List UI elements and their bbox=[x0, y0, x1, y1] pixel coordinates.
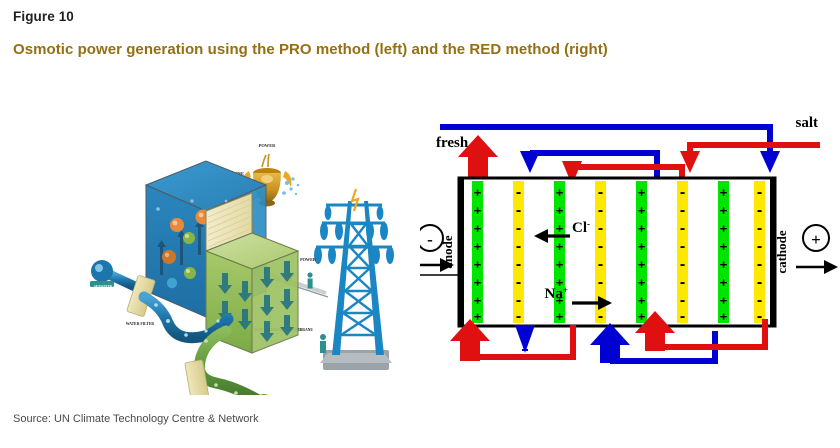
svg-text:-: - bbox=[757, 256, 762, 273]
red-method-schematic: fresh salt ++++ bbox=[420, 105, 840, 395]
svg-text:-: - bbox=[598, 274, 603, 291]
fresh-outlet-down-arrow bbox=[515, 325, 535, 353]
cathode-terminal-sign: + bbox=[811, 230, 821, 249]
pro-water-filter-1-label: WATER FILTER bbox=[126, 322, 155, 326]
svg-text:-: - bbox=[516, 308, 521, 325]
source-caption: Source: UN Climate Technology Centre & N… bbox=[13, 413, 259, 425]
svg-text:-: - bbox=[680, 308, 685, 325]
svg-text:-: - bbox=[680, 202, 685, 219]
svg-text:+: + bbox=[474, 185, 482, 200]
svg-text:-: - bbox=[757, 220, 762, 237]
svg-text:+: + bbox=[638, 221, 646, 236]
svg-text:+: + bbox=[556, 257, 564, 272]
svg-text:+: + bbox=[556, 239, 564, 254]
svg-text:-: - bbox=[598, 238, 603, 255]
svg-text:-: - bbox=[757, 274, 762, 291]
svg-text:+: + bbox=[638, 275, 646, 290]
fresh-outlet-up-arrow bbox=[590, 323, 630, 363]
svg-text:+: + bbox=[720, 293, 728, 308]
svg-text:-: - bbox=[757, 308, 762, 325]
salt-inlet-header bbox=[690, 145, 820, 153]
svg-text:-: - bbox=[516, 256, 521, 273]
lightning-icon bbox=[352, 189, 358, 211]
svg-text:-: - bbox=[757, 292, 762, 309]
svg-text:-: - bbox=[598, 202, 603, 219]
svg-text:+: + bbox=[720, 203, 728, 218]
transmission-pylon-icon bbox=[314, 189, 394, 370]
fresh-down-arrow-right bbox=[760, 151, 780, 173]
figure-title: Osmotic power generation using the PRO m… bbox=[13, 41, 608, 58]
fresh-down-arrow-left bbox=[520, 151, 540, 173]
svg-text:+: + bbox=[720, 185, 728, 200]
svg-text:+: + bbox=[556, 309, 564, 324]
svg-text:+: + bbox=[720, 309, 728, 324]
svg-text:-: - bbox=[757, 202, 762, 219]
salt-label: salt bbox=[796, 115, 819, 131]
svg-text:-: - bbox=[680, 256, 685, 273]
svg-text:-: - bbox=[516, 202, 521, 219]
cathode-label: cathode bbox=[774, 230, 789, 274]
svg-text:+: + bbox=[474, 275, 482, 290]
svg-text:-: - bbox=[598, 220, 603, 237]
pro-power-turbine-label: POWER bbox=[259, 143, 276, 148]
svg-text:-: - bbox=[757, 238, 762, 255]
svg-text:+: + bbox=[474, 239, 482, 254]
svg-text:+: + bbox=[720, 257, 728, 272]
svg-text:-: - bbox=[516, 184, 521, 201]
fresh-label: fresh bbox=[436, 135, 469, 151]
svg-text:-: - bbox=[516, 274, 521, 291]
svg-text:-: - bbox=[757, 184, 762, 201]
svg-text:-: - bbox=[598, 184, 603, 201]
red-cell-stack: ++++ ++++ ++++ ++++ ++++ ++++ ++++ ++++ … bbox=[459, 178, 775, 326]
svg-text:+: + bbox=[720, 275, 728, 290]
svg-text:-: - bbox=[680, 184, 685, 201]
anode-terminal-sign: - bbox=[427, 230, 433, 249]
svg-text:+: + bbox=[474, 257, 482, 272]
svg-text:+: + bbox=[474, 221, 482, 236]
svg-text:+: + bbox=[638, 309, 646, 324]
svg-text:+: + bbox=[720, 239, 728, 254]
svg-text:+: + bbox=[474, 203, 482, 218]
worker-figure-icon bbox=[320, 334, 326, 353]
svg-text:-: - bbox=[516, 238, 521, 255]
svg-text:+: + bbox=[474, 309, 482, 324]
svg-text:+: + bbox=[556, 203, 564, 218]
svg-text:+: + bbox=[638, 257, 646, 272]
svg-text:+: + bbox=[720, 221, 728, 236]
pro-seawater-label: SEAWATER bbox=[94, 284, 113, 288]
figure-page: Figure 10 Osmotic power generation using… bbox=[0, 0, 840, 448]
pro-power-line-label: POWER bbox=[300, 257, 317, 262]
cathode-terminal: + bbox=[803, 225, 829, 251]
svg-text:+: + bbox=[474, 293, 482, 308]
svg-text:-: - bbox=[680, 274, 685, 291]
svg-text:-: - bbox=[516, 292, 521, 309]
svg-text:-: - bbox=[680, 220, 685, 237]
figure-label: Figure 10 bbox=[13, 9, 74, 24]
cathode-circuit-wire bbox=[796, 260, 838, 274]
svg-text:+: + bbox=[638, 293, 646, 308]
svg-text:-: - bbox=[680, 238, 685, 255]
svg-text:+: + bbox=[638, 185, 646, 200]
worker-figure-2-icon bbox=[307, 272, 312, 288]
svg-text:-: - bbox=[598, 256, 603, 273]
svg-text:+: + bbox=[638, 203, 646, 218]
svg-text:-: - bbox=[598, 308, 603, 325]
anode-electrode bbox=[459, 178, 464, 326]
svg-text:+: + bbox=[638, 239, 646, 254]
pro-method-illustration: POWER POWER TURBINE bbox=[40, 105, 420, 395]
svg-text:-: - bbox=[680, 292, 685, 309]
svg-text:-: - bbox=[516, 220, 521, 237]
svg-text:+: + bbox=[556, 221, 564, 236]
cathode-current-arrow bbox=[824, 260, 838, 274]
svg-text:+: + bbox=[556, 185, 564, 200]
